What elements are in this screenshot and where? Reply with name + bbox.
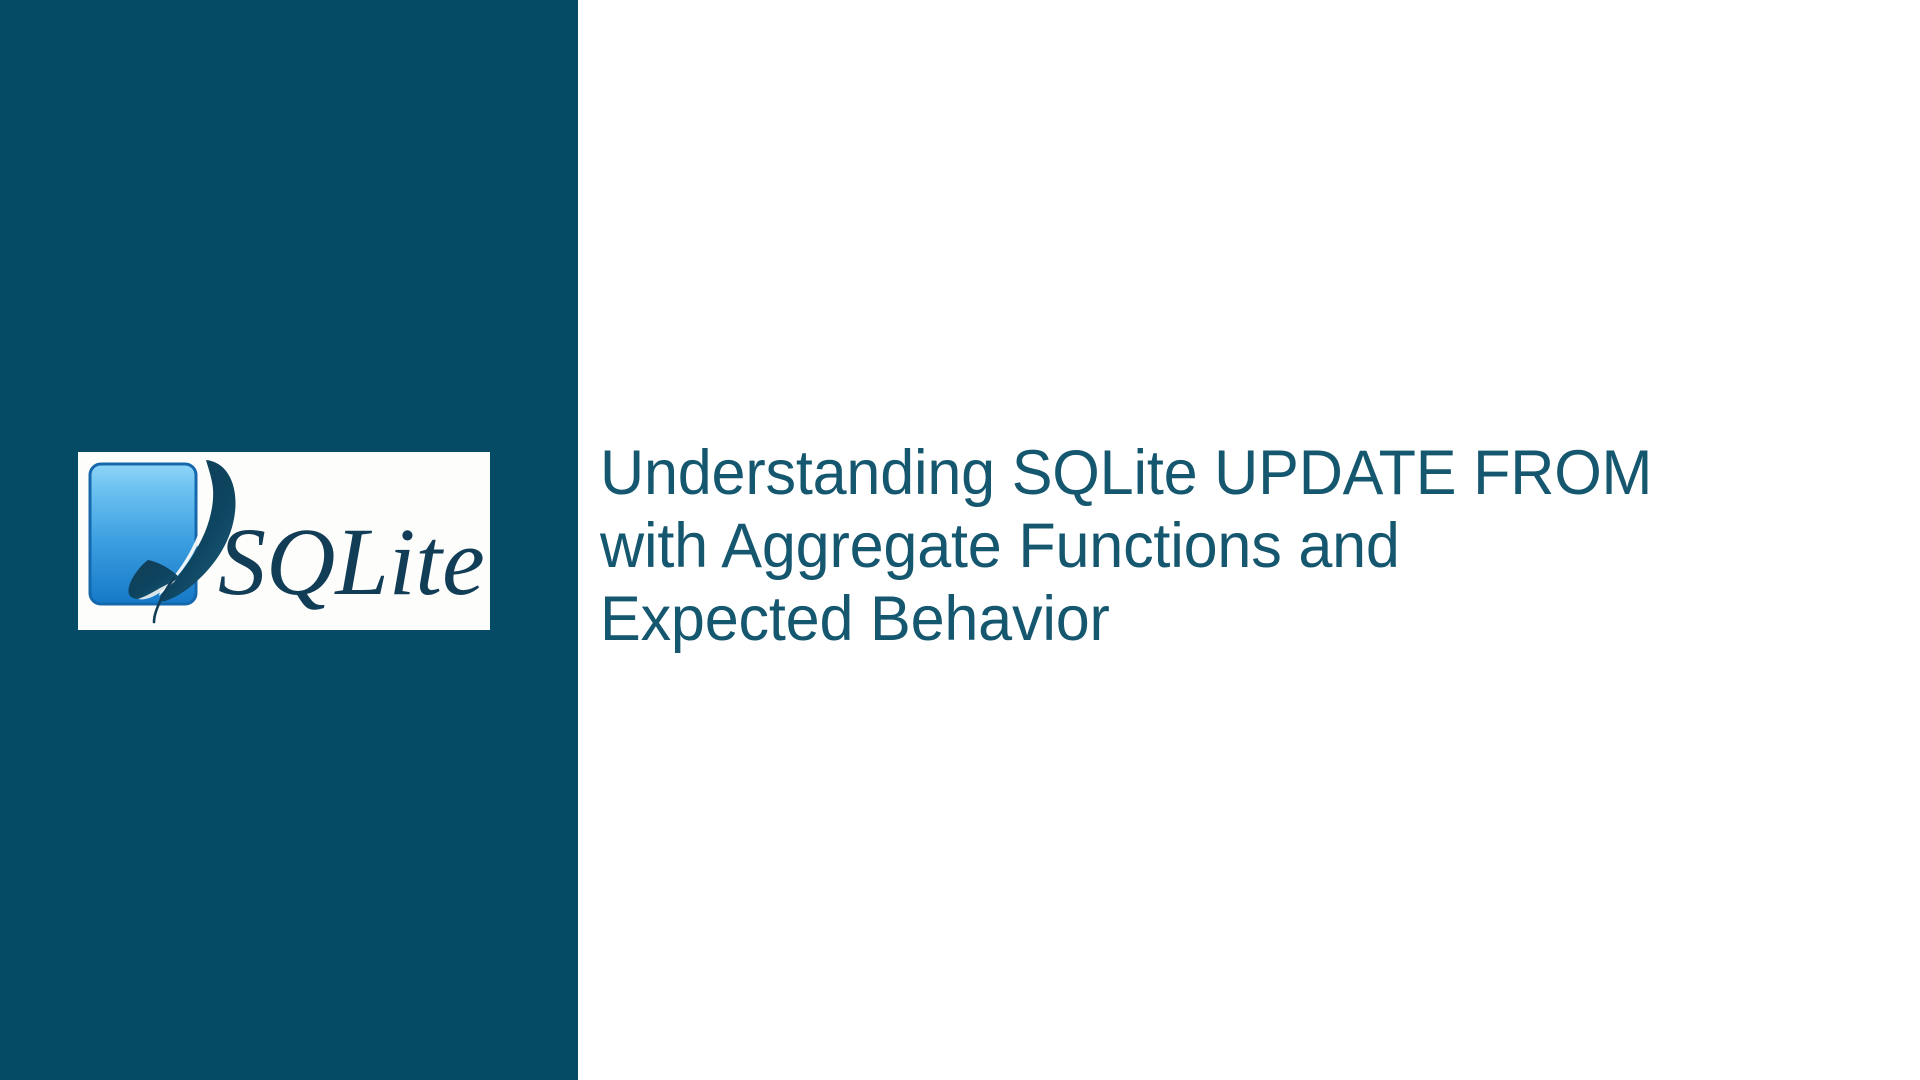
title-block: Understanding SQLite UPDATE FROM with Ag… [600,437,1920,656]
title-slide: SQLite Understanding SQLite UPDATE FROM … [0,0,1920,1080]
sqlite-logo: SQLite [78,452,490,630]
sqlite-logo-card: SQLite [78,452,490,630]
sqlite-wordmark: SQLite [218,508,485,615]
sqlite-logo-icon: SQLite [78,452,490,630]
page-title: Understanding SQLite UPDATE FROM with Ag… [600,437,1880,656]
